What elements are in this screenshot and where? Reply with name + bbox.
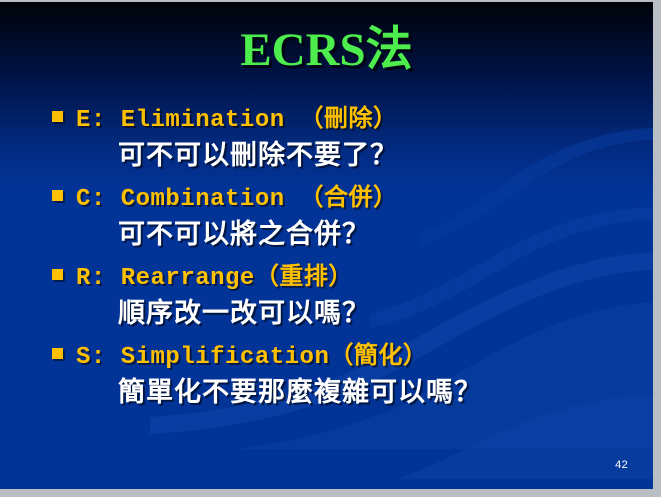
bullet-group-combination: C: Combination （合併） 可不可以將之合併？ <box>52 177 632 253</box>
bullet-heading-text: R: Rearrange（重排） <box>76 256 353 292</box>
bullet-heading-text: E: Elimination （刪除） <box>76 98 398 134</box>
slide-body: E: Elimination （刪除） 可不可以刪除不要了？ C: Combin… <box>52 98 632 414</box>
slide-frame-right-edge <box>653 0 661 497</box>
bullet-heading-text: S: Simplification（簡化） <box>76 335 427 371</box>
square-bullet-icon <box>52 269 63 280</box>
bullet-line: C: Combination （合併） <box>52 177 632 213</box>
square-bullet-icon <box>52 111 63 122</box>
bullet-group-simplification: S: Simplification（簡化） 簡單化不要那麼複雜可以嗎？ <box>52 335 632 411</box>
bullet-line: S: Simplification（簡化） <box>52 335 632 371</box>
bullet-group-elimination: E: Elimination （刪除） 可不可以刪除不要了？ <box>52 98 632 174</box>
bullet-sub-text: 順序改一改可以嗎？ <box>118 294 632 332</box>
bullet-line: R: Rearrange（重排） <box>52 256 632 292</box>
slide-title: ECRS法 <box>0 26 653 75</box>
slide-frame-top-edge <box>0 0 661 2</box>
square-bullet-icon <box>52 190 63 201</box>
presentation-slide: ECRS法 E: Elimination （刪除） 可不可以刪除不要了？ C: … <box>0 0 661 497</box>
bullet-heading-text: C: Combination （合併） <box>76 177 398 213</box>
bullet-line: E: Elimination （刪除） <box>52 98 632 134</box>
slide-frame-bottom-edge <box>0 489 661 497</box>
bullet-group-rearrange: R: Rearrange（重排） 順序改一改可以嗎？ <box>52 256 632 332</box>
square-bullet-icon <box>52 348 63 359</box>
bullet-sub-text: 可不可以刪除不要了？ <box>118 136 632 174</box>
slide-canvas: ECRS法 E: Elimination （刪除） 可不可以刪除不要了？ C: … <box>0 2 653 489</box>
slide-page-number: 42 <box>615 459 628 471</box>
bullet-sub-text: 簡單化不要那麼複雜可以嗎？ <box>118 373 632 411</box>
bullet-sub-text: 可不可以將之合併？ <box>118 215 632 253</box>
